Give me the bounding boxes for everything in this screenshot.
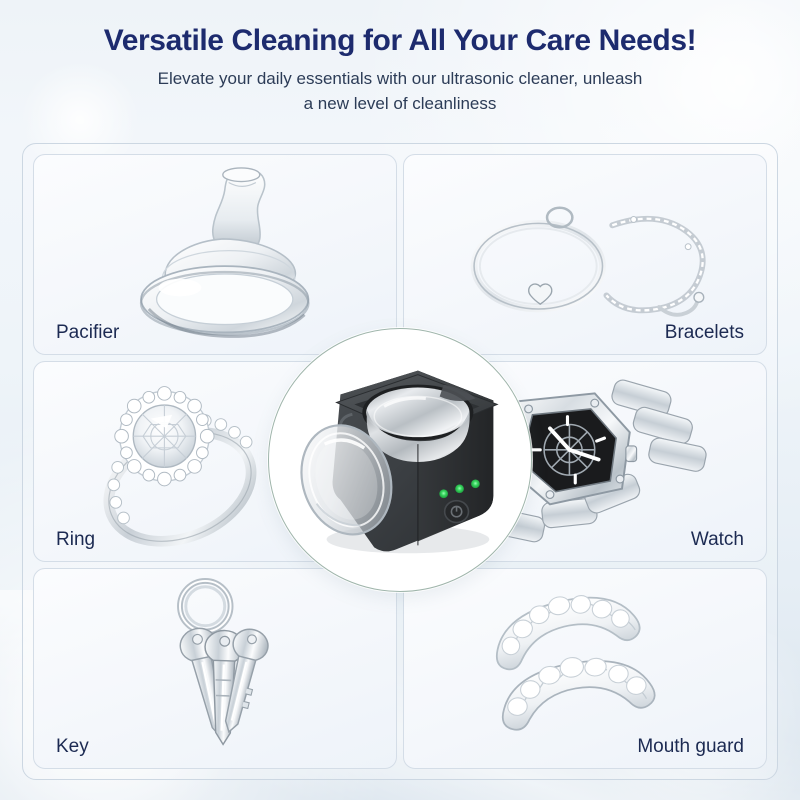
card-key[interactable]: Key xyxy=(33,568,397,769)
ultrasonic-cleaner-hero xyxy=(268,328,532,592)
card-label-mouth-guard: Mouth guard xyxy=(637,736,744,758)
led-indicator-1 xyxy=(439,489,448,498)
page-subtitle: Elevate your daily essentials with our u… xyxy=(0,67,800,116)
card-mouth-guard[interactable]: Mouth guard xyxy=(403,568,767,769)
card-label-key: Key xyxy=(56,736,89,758)
card-label-pacifier: Pacifier xyxy=(56,322,119,344)
card-label-watch: Watch xyxy=(691,529,744,551)
led-indicator-3 xyxy=(471,479,480,488)
card-bracelets[interactable]: Bracelets xyxy=(403,154,767,355)
header: Versatile Cleaning for All Your Care Nee… xyxy=(0,24,800,116)
promo-graphic: Versatile Cleaning for All Your Care Nee… xyxy=(0,0,800,800)
card-label-ring: Ring xyxy=(56,529,95,551)
card-pacifier[interactable]: Pacifier xyxy=(33,154,397,355)
subtitle-line-1: Elevate your daily essentials with our u… xyxy=(0,67,800,92)
led-indicator-2 xyxy=(455,484,464,493)
card-label-bracelets: Bracelets xyxy=(665,322,744,344)
page-title: Versatile Cleaning for All Your Care Nee… xyxy=(0,24,800,57)
subtitle-line-2: a new level of cleanliness xyxy=(0,92,800,117)
ultrasonic-cleaner-icon xyxy=(269,329,531,591)
